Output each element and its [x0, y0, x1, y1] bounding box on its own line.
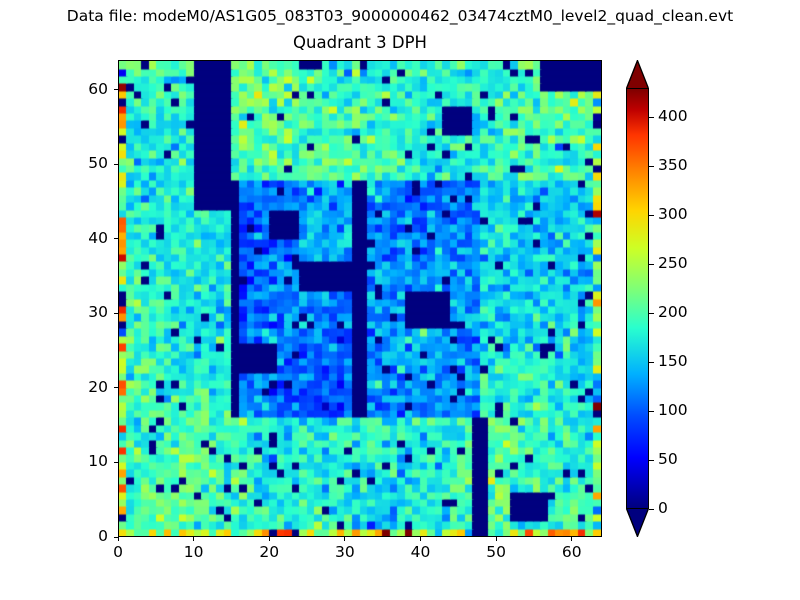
colorbar [626, 60, 649, 537]
y-tick-label: 0 [60, 528, 108, 544]
x-tick-label: 60 [547, 544, 597, 560]
colorbar-tick-mark [649, 313, 654, 314]
x-tick-label: 30 [320, 544, 370, 560]
colorbar-tick-mark [649, 166, 654, 167]
x-tick-mark [344, 537, 345, 541]
y-tick-mark [114, 462, 118, 463]
x-tick-mark [193, 537, 194, 541]
y-tick-mark [114, 164, 118, 165]
y-tick-mark [114, 89, 118, 90]
heatmap-image [119, 61, 601, 536]
x-tick-mark [496, 537, 497, 541]
axes-title: Quadrant 3 DPH [118, 33, 602, 53]
colorbar-tick-label: 150 [658, 353, 688, 369]
colorbar-tick-mark [649, 411, 654, 412]
x-tick-label: 10 [169, 544, 219, 560]
y-tick-label: 40 [60, 230, 108, 246]
y-tick-mark [114, 313, 118, 314]
colorbar-tick-label: 250 [658, 255, 688, 271]
figure-suptitle: Data file: modeM0/AS1G05_083T03_90000004… [0, 7, 800, 25]
y-tick-label: 20 [60, 379, 108, 395]
colorbar-tick-label: 300 [658, 206, 688, 222]
x-tick-mark [420, 537, 421, 541]
colorbar-tick-mark [649, 509, 654, 510]
colorbar-gradient [626, 88, 649, 509]
colorbar-tick-label: 200 [658, 304, 688, 320]
y-tick-label: 50 [60, 155, 108, 171]
x-tick-label: 0 [93, 544, 143, 560]
y-tick-mark [114, 387, 118, 388]
matplotlib-figure: Data file: modeM0/AS1G05_083T03_90000004… [0, 0, 800, 600]
colorbar-tick-mark [649, 362, 654, 363]
x-tick-label: 20 [244, 544, 294, 560]
colorbar-tick-label: 0 [658, 500, 668, 516]
y-tick-label: 30 [60, 304, 108, 320]
colorbar-tick-label: 50 [658, 451, 678, 467]
x-tick-mark [269, 537, 270, 541]
x-tick-mark [118, 537, 119, 541]
colorbar-tick-label: 350 [658, 157, 688, 173]
y-tick-label: 10 [60, 453, 108, 469]
colorbar-tick-label: 100 [658, 402, 688, 418]
heatmap-axes [118, 60, 602, 537]
x-tick-label: 50 [471, 544, 521, 560]
colorbar-tick-mark [649, 264, 654, 265]
colorbar-extend-min-outline [626, 509, 649, 537]
colorbar-tick-label: 400 [658, 108, 688, 124]
colorbar-tick-mark [649, 215, 654, 216]
colorbar-tick-mark [649, 460, 654, 461]
y-tick-label: 60 [60, 81, 108, 97]
x-tick-mark [571, 537, 572, 541]
colorbar-tick-mark [649, 117, 654, 118]
colorbar-extend-max-outline [626, 60, 649, 88]
y-tick-mark [114, 238, 118, 239]
x-tick-label: 40 [396, 544, 446, 560]
